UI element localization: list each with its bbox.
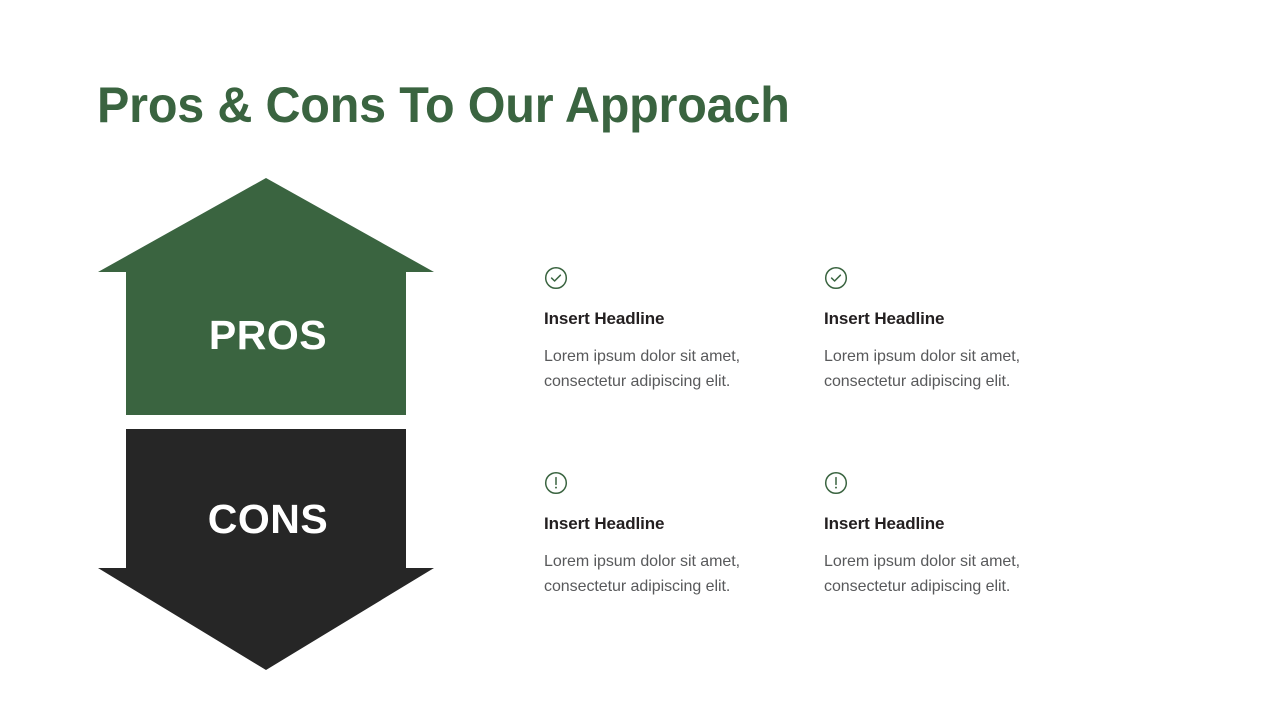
cons-arrow-label: CONS [90, 499, 446, 540]
feature-headline: Insert Headline [544, 513, 796, 535]
slide-canvas: Pros & Cons To Our Approach PROS CONS In… [0, 0, 1280, 720]
pros-arrow-label: PROS [90, 315, 446, 356]
feature-grid: Insert Headline Lorem ipsum dolor sit am… [544, 266, 1244, 646]
down-arrow-shape [98, 429, 434, 670]
check-circle-icon [544, 266, 568, 290]
feature-item-pros-1[interactable]: Insert Headline Lorem ipsum dolor sit am… [544, 266, 796, 394]
feature-headline: Insert Headline [824, 308, 1076, 330]
exclamation-circle-icon [544, 471, 568, 495]
exclamation-circle-icon [824, 471, 848, 495]
feature-headline: Insert Headline [544, 308, 796, 330]
pros-cons-arrow-diagram: PROS CONS [90, 168, 446, 680]
feature-body: Lorem ipsum dolor sit amet, consectetur … [544, 344, 796, 394]
up-arrow-shape [98, 178, 434, 415]
feature-item-pros-2[interactable]: Insert Headline Lorem ipsum dolor sit am… [824, 266, 1076, 394]
page-title: Pros & Cons To Our Approach [97, 74, 790, 136]
feature-body: Lorem ipsum dolor sit amet, consectetur … [824, 549, 1076, 599]
feature-body: Lorem ipsum dolor sit amet, consectetur … [544, 549, 796, 599]
feature-item-cons-1[interactable]: Insert Headline Lorem ipsum dolor sit am… [544, 471, 796, 599]
check-circle-icon [824, 266, 848, 290]
feature-item-cons-2[interactable]: Insert Headline Lorem ipsum dolor sit am… [824, 471, 1076, 599]
feature-body: Lorem ipsum dolor sit amet, consectetur … [824, 344, 1076, 394]
feature-headline: Insert Headline [824, 513, 1076, 535]
